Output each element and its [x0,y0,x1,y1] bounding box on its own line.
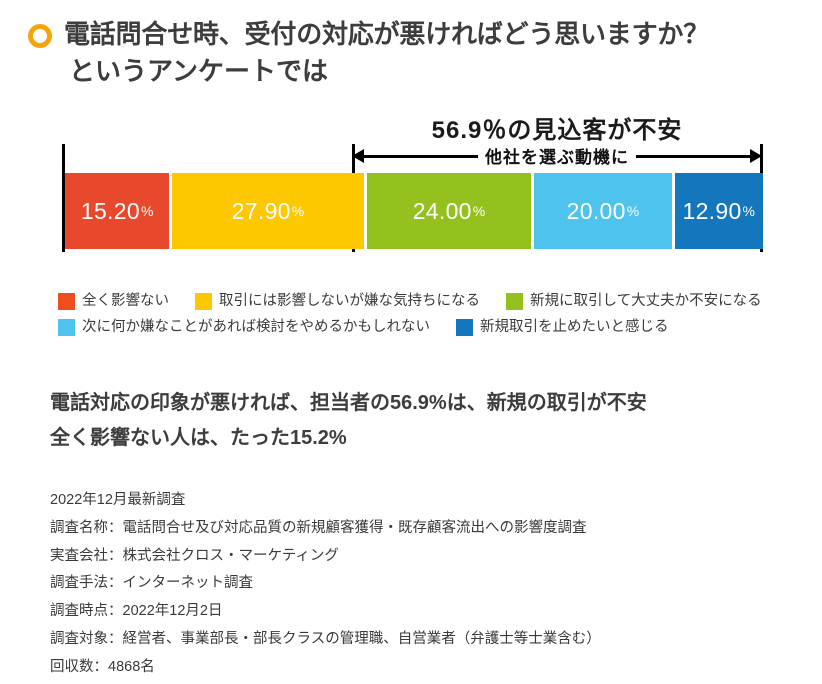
chart-range-bracket: 他社を選ぶ動機に [352,146,762,166]
legend-row: 次に何か嫌なことがあれば検討をやめるかもしれない新規取引を止めたいと感じる [58,314,818,340]
legend-row: 全く影響ない取引には影響しないが嫌な気持ちになる新規に取引して大丈夫か不安になる [58,288,818,314]
bracket-caption: 他社を選ぶ動機に [352,143,762,168]
legend-item-label: 取引には影響しないが嫌な気持ちになる [219,294,480,309]
legend-item: 新規取引を止めたいと感じる [456,319,669,336]
legend-color-swatch [506,293,523,310]
title-row-1: 電話問合せ時、受付の対応が悪ければどう思いますか？ [28,16,808,53]
legend-item: 全く影響ない [58,293,169,310]
legend-color-swatch [58,319,75,336]
legend-item-label: 新規に取引して大丈夫か不安になる [530,294,762,309]
legend-item: 取引には影響しないが嫌な気持ちになる [195,293,480,310]
survey-meta-line: 調査手法：インターネット調査 [50,570,810,598]
orange-ring-icon [28,24,52,48]
survey-meta-line: 調査名称：電話問合せ及び対応品質の新規顧客獲得・既存顧客流出への影響度調査 [50,515,810,543]
page-title-block: 電話問合せ時、受付の対応が悪ければどう思いますか？ というアンケートでは [28,16,808,90]
bar-segment-unit: % [292,203,304,219]
chart-highlight-heading: 56.9％の見込客が不安 [352,110,762,145]
bar-segment: 12.90% [675,173,764,249]
survey-meta-line: 実査会社：株式会社クロス・マーケティング [50,543,810,571]
bar-segment: 20.00% [534,173,671,249]
bar-segment-unit: % [743,203,755,219]
survey-meta-line: 2022年12月最新調査 [50,487,810,515]
legend-color-swatch [456,319,473,336]
bar-segment: 24.00% [367,173,532,249]
page-title-line-2: というアンケートでは [69,53,808,90]
conclusion-block: 電話対応の印象が悪ければ、担当者の56.9%は、新規の取引が不安 全く影響ない人… [50,386,810,456]
legend-item: 新規に取引して大丈夫か不安になる [506,293,762,310]
conclusion-line-2: 全く影響ない人は、たった15.2% [50,421,810,456]
bar-segment-unit: % [627,203,639,219]
survey-meta-line: 調査時点：2022年12月2日 [50,598,810,626]
bar-segment-unit: % [141,203,153,219]
bar-segment-value: 24.00 [413,198,472,225]
survey-meta-line: 回収数：4868名 [50,654,810,682]
bar-segment-value: 15.20 [81,198,140,225]
bar-segment-value: 27.90 [232,198,291,225]
bar-segment-unit: % [473,203,485,219]
legend-item: 次に何か嫌なことがあれば検討をやめるかもしれない [58,319,430,336]
stacked-bar-chart: 56.9％の見込客が不安 他社を選ぶ動機に 15.20%27.90%24.00%… [0,108,822,288]
bracket-caption-text: 他社を選ぶ動機に [478,148,636,167]
bar-segment-value: 12.90 [682,198,741,225]
bar-segment: 15.20% [65,173,169,249]
page-title-line-1: 電話問合せ時、受付の対応が悪ければどう思いますか？ [64,16,709,53]
legend-item-label: 新規取引を止めたいと感じる [480,320,669,335]
chart-legend: 全く影響ない取引には影響しないが嫌な気持ちになる新規に取引して大丈夫か不安になる… [58,288,818,340]
legend-item-label: 全く影響ない [82,294,169,309]
legend-item-label: 次に何か嫌なことがあれば検討をやめるかもしれない [82,320,430,335]
bar-segments-container: 15.20%27.90%24.00%20.00%12.90% [65,173,763,249]
survey-meta-line: 調査対象：経営者、事業部長・部長クラスの管理職、自営業者（弁護士等士業含む） [50,626,810,654]
survey-meta-block: 2022年12月最新調査調査名称：電話問合せ及び対応品質の新規顧客獲得・既存顧客… [50,487,810,682]
bar-segment: 27.90% [172,173,363,249]
conclusion-line-1: 電話対応の印象が悪ければ、担当者の56.9%は、新規の取引が不安 [50,386,810,421]
bar-segment-value: 20.00 [567,198,626,225]
legend-color-swatch [195,293,212,310]
legend-color-swatch [58,293,75,310]
